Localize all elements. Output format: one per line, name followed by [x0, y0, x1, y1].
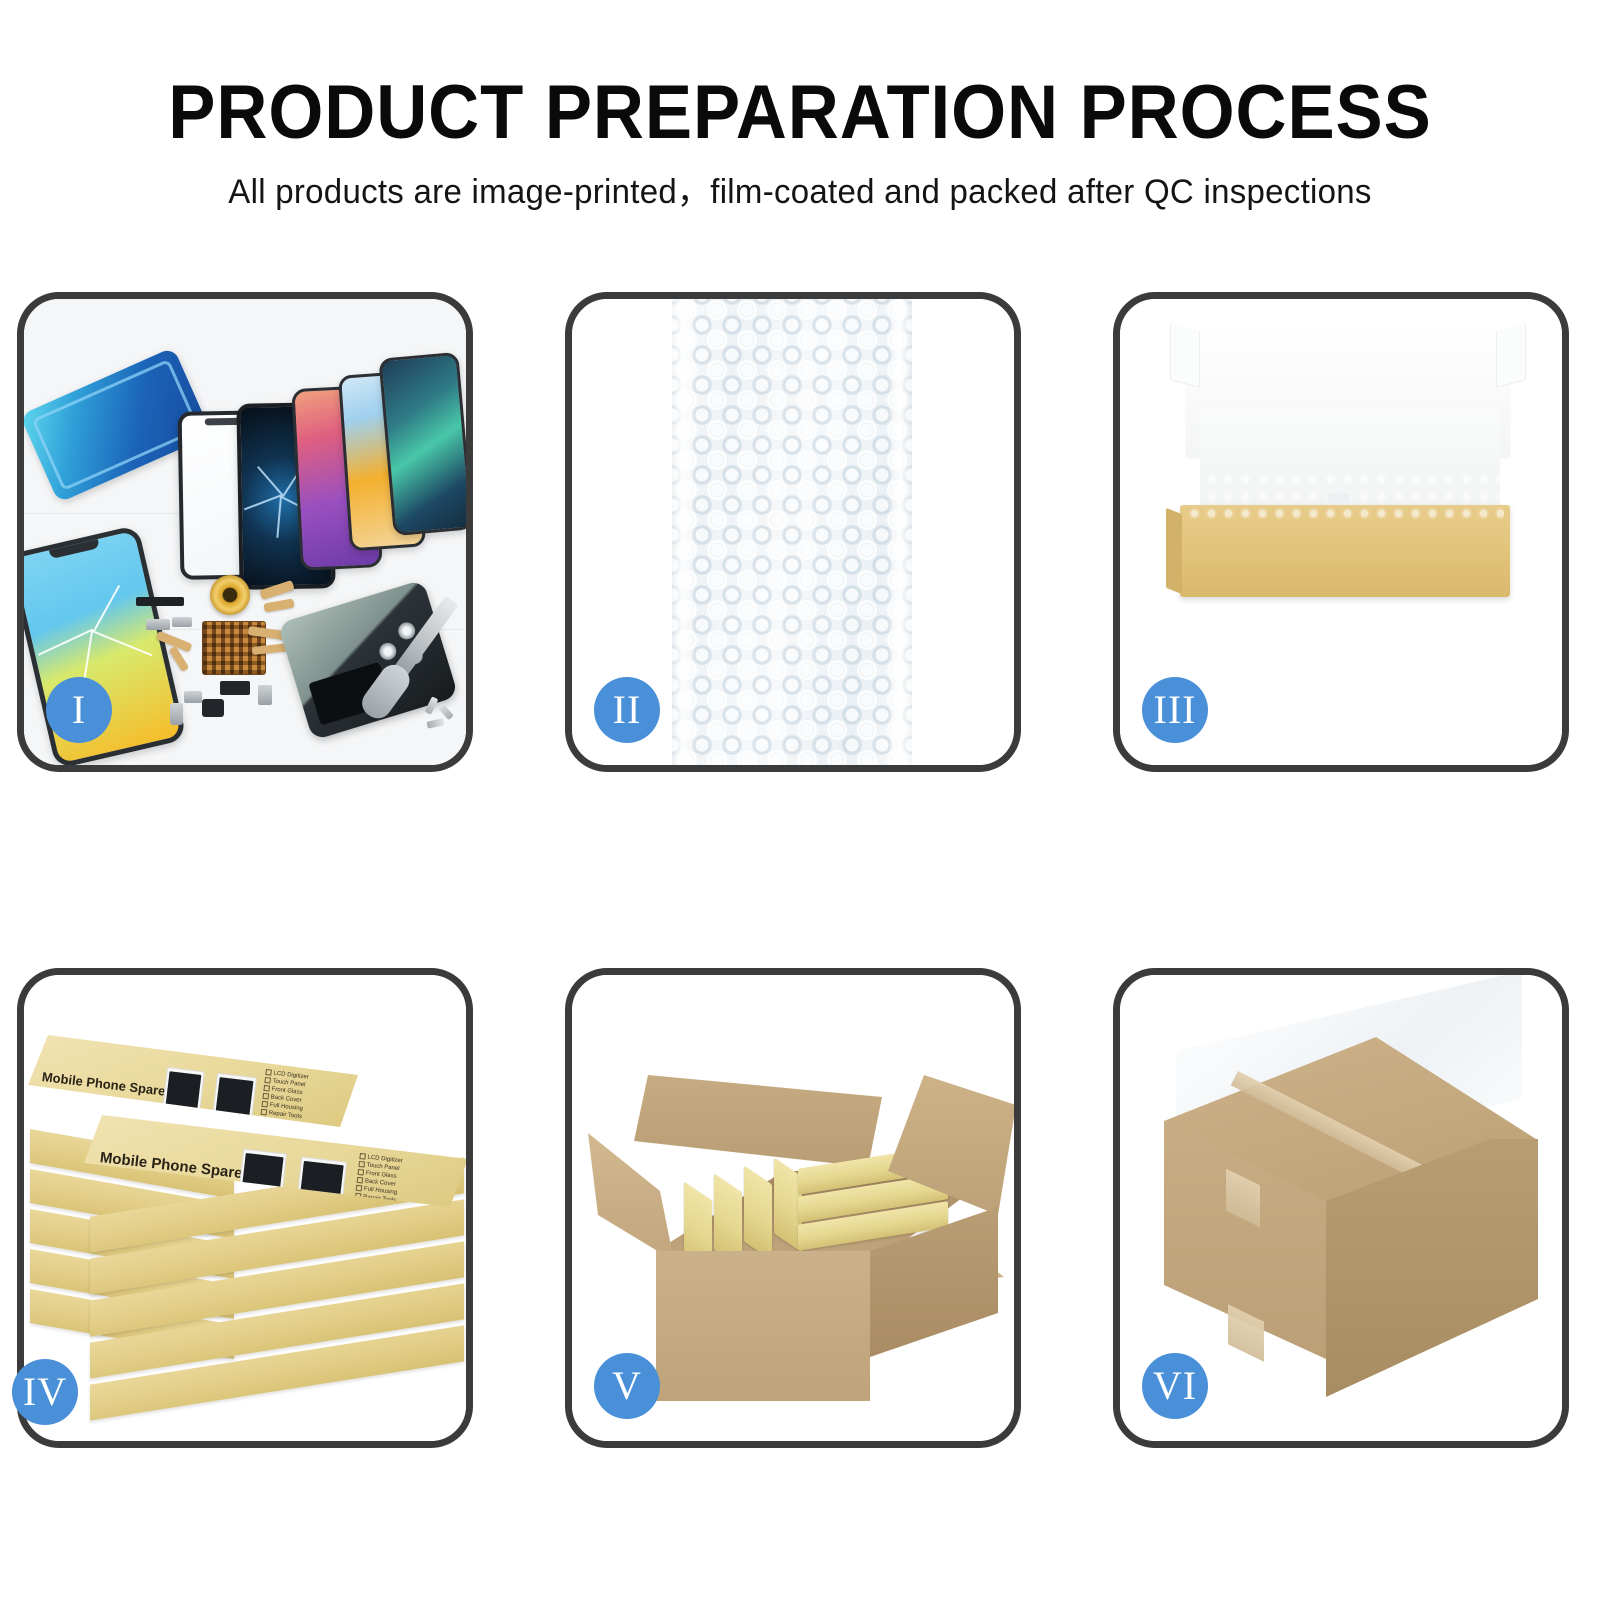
bag-edge-right	[888, 299, 914, 765]
carton-flap-left	[588, 1133, 674, 1261]
metal-bracket-part	[184, 691, 202, 703]
box-screen-thumbnail	[161, 1067, 205, 1121]
bag-edge-left	[670, 299, 696, 765]
step-panel-4: Mobile Phone Spare Parts LCD Digitizer T…	[17, 968, 473, 1448]
step-panel-1: I	[17, 292, 473, 772]
screw-part	[426, 718, 444, 728]
bubble-wrap-bag	[672, 299, 912, 765]
bubble-rim-texture	[672, 299, 912, 765]
page-subtitle: All products are image-printed，film-coat…	[24, 154, 1576, 212]
wireless-charging-coil	[210, 575, 250, 615]
step-badge-4: IV	[12, 1359, 78, 1425]
page-header: PRODUCT PREPARATION PROCESS All products…	[0, 0, 1600, 250]
screw-part	[437, 703, 454, 720]
teal-gradient-phone	[378, 352, 466, 536]
step-badge-1: I	[46, 677, 112, 743]
step-panel-5: V	[565, 968, 1021, 1448]
earpiece-speaker-part	[136, 597, 184, 606]
gold-box-printed-top: Mobile Phone Spare Parts LCD Digitizer T…	[28, 1035, 358, 1127]
step-4-image: Mobile Phone Spare Parts LCD Digitizer T…	[24, 975, 466, 1441]
box-screen-thumbnail	[211, 1073, 257, 1129]
gold-mailer-tray	[1180, 505, 1510, 597]
process-steps-grid: I II	[0, 250, 1600, 1600]
stacked-gold-boxes-scene: Mobile Phone Spare Parts LCD Digitizer T…	[24, 975, 466, 1441]
step-panel-2: II	[565, 292, 1021, 772]
step-badge-2: II	[594, 677, 660, 743]
wrapped-screen-in-box	[1186, 471, 1504, 519]
retail-box-checklist: LCD Digitizer Touch Panel Front Glass Ba…	[260, 1069, 309, 1122]
phone-back-housing	[277, 579, 458, 740]
page-title: PRODUCT PREPARATION PROCESS	[56, 0, 1544, 154]
step-panel-3: III	[1113, 292, 1569, 772]
carton-flap-back	[634, 1075, 882, 1167]
step-badge-5: V	[594, 1353, 660, 1419]
carton-side-front	[656, 1251, 870, 1401]
flex-cable-part	[263, 598, 294, 612]
sim-tray-part	[170, 703, 183, 725]
metal-bracket-part	[146, 619, 170, 630]
step-badge-6: VI	[1142, 1353, 1208, 1419]
metal-shield-part	[258, 685, 272, 705]
camera-module-part	[202, 699, 224, 717]
metal-bracket-part	[172, 617, 192, 627]
step-panel-6: VI	[1113, 968, 1569, 1448]
step-badge-3: III	[1142, 677, 1208, 743]
dark-ic-chip	[220, 681, 250, 695]
